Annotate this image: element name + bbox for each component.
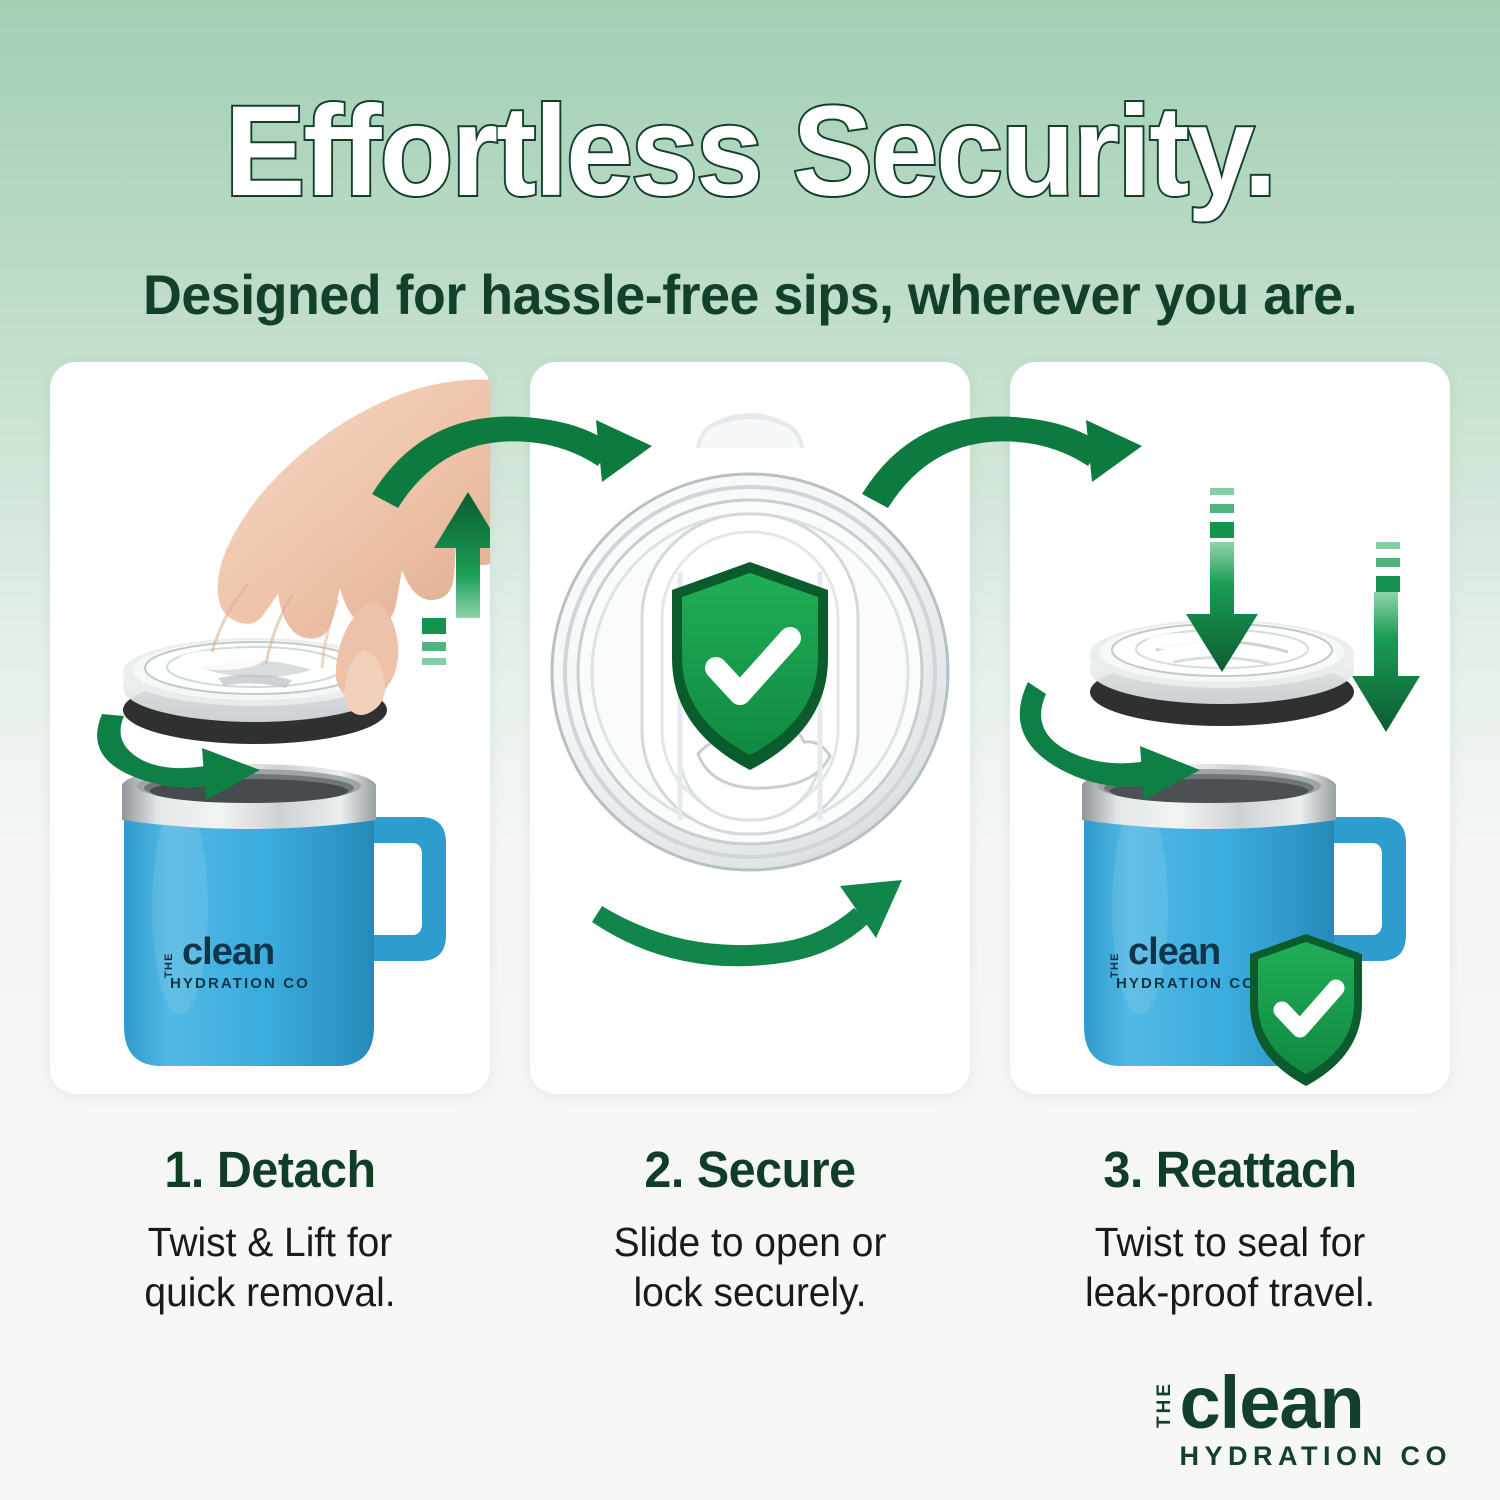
scene-detach: THE clean HYDRATION CO xyxy=(50,362,490,1094)
page-headline: Effortless Security. xyxy=(45,88,1455,216)
caption-detach: 1. Detach Twist & Lift for quick removal… xyxy=(50,1140,490,1317)
svg-text:HYDRATION CO: HYDRATION CO xyxy=(170,975,310,992)
svg-text:clean: clean xyxy=(182,931,274,973)
down-arrow-icon xyxy=(1352,542,1420,732)
caption-title-detach: 1. Detach xyxy=(61,1140,479,1199)
caption-body-line-1: Twist & Lift for xyxy=(61,1217,479,1267)
brand-logo: THE clean HYDRATION CO xyxy=(1155,1371,1453,1472)
caption-secure: 2. Secure Slide to open or lock securely… xyxy=(530,1140,970,1317)
step-card-secure xyxy=(530,362,970,1094)
caption-body-line-1: Slide to open or xyxy=(541,1217,959,1267)
scene-secure xyxy=(530,362,970,1094)
brand-logo-the: THE xyxy=(1155,1381,1174,1428)
steps-card-row: THE clean HYDRATION CO xyxy=(50,362,1450,1094)
scene-reattach: THE clean HYDRATION CO xyxy=(1010,362,1450,1094)
caption-body-reattach: Twist to seal for leak-proof travel. xyxy=(1021,1217,1439,1317)
brand-logo-stack: clean HYDRATION CO xyxy=(1180,1371,1453,1472)
step-card-detach: THE clean HYDRATION CO xyxy=(50,362,490,1094)
caption-body-line-2: lock securely. xyxy=(541,1267,959,1317)
caption-title-secure: 2. Secure xyxy=(541,1140,959,1199)
caption-title-reattach: 3. Reattach xyxy=(1021,1140,1439,1199)
brand-logo-tagline: HYDRATION CO xyxy=(1180,1441,1453,1472)
brand-logo-name: clean xyxy=(1180,1371,1453,1435)
blue-mug-icon: THE clean HYDRATION CO xyxy=(122,764,446,1066)
caption-body-secure: Slide to open or lock securely. xyxy=(541,1217,959,1317)
caption-reattach: 3. Reattach Twist to seal for leak-proof… xyxy=(1010,1140,1450,1317)
caption-body-line-2: leak-proof travel. xyxy=(1021,1267,1439,1317)
caption-body-line-1: Twist to seal for xyxy=(1021,1217,1439,1267)
svg-text:HYDRATION CO: HYDRATION CO xyxy=(1116,975,1256,992)
rotate-arrow-icon xyxy=(592,880,902,966)
step-card-reattach: THE clean HYDRATION CO xyxy=(1010,362,1450,1094)
caption-body-line-2: quick removal. xyxy=(61,1267,479,1317)
step-captions-row: 1. Detach Twist & Lift for quick removal… xyxy=(50,1140,1450,1317)
svg-text:clean: clean xyxy=(1128,931,1220,973)
infographic-page: Effortless Security. Designed for hassle… xyxy=(0,0,1500,1500)
page-subheadline: Designed for hassle-free sips, wherever … xyxy=(30,262,1470,327)
caption-body-detach: Twist & Lift for quick removal. xyxy=(61,1217,479,1317)
